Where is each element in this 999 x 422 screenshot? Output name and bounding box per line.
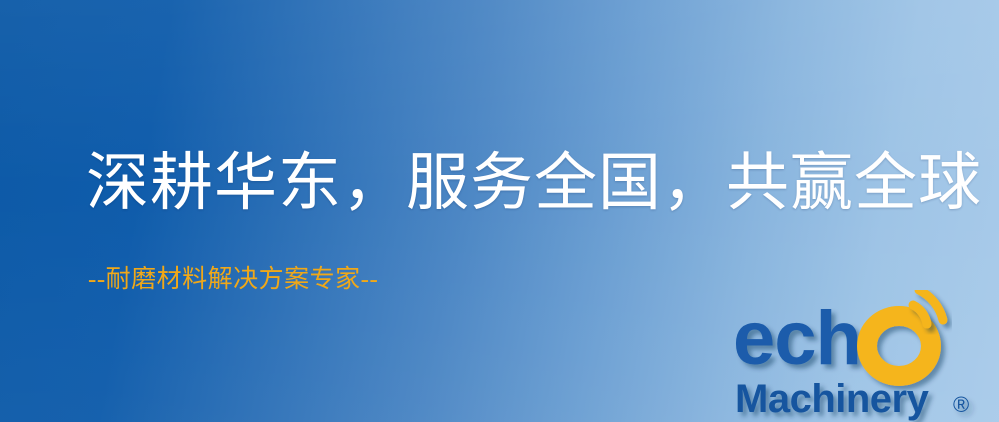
logo-subword: Machinery ® bbox=[735, 377, 969, 421]
registered-trademark-icon: ® bbox=[953, 392, 969, 417]
echo-machinery-logo[interactable]: ech Machinery ® bbox=[731, 290, 993, 422]
logo-o-ring bbox=[867, 316, 931, 376]
logo-wordmark-ech-text: ech bbox=[733, 296, 861, 381]
banner-headline: 深耕华东，服务全国，共赢全球 bbox=[86, 152, 982, 215]
logo-subword-text: Machinery bbox=[735, 377, 930, 421]
hero-banner: 深耕华东，服务全国，共赢全球 --耐磨材料解决方案专家-- ech bbox=[0, 0, 999, 422]
banner-subtitle: --耐磨材料解决方案专家-- bbox=[88, 266, 378, 294]
logo-wordmark-ech: ech bbox=[733, 296, 861, 381]
